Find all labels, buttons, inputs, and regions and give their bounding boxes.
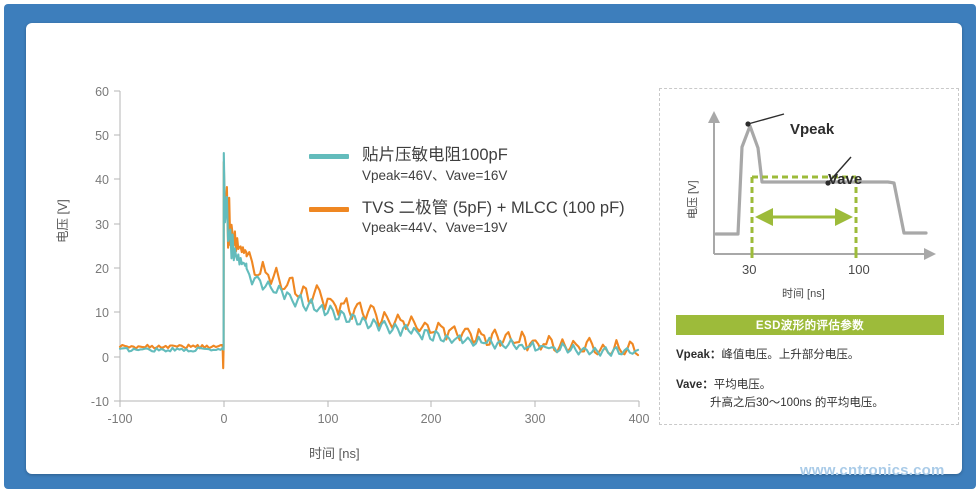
x-tick: 100	[318, 412, 339, 426]
mini-y-axis-label: 电压 [V]	[684, 180, 700, 219]
definition-vave: Vave：平均电压。 升高之后30～100ns 的平均电压。	[676, 377, 951, 412]
vave-annotation-label: Vave	[828, 171, 862, 188]
y-tick: 60	[95, 85, 109, 99]
screenshot-root: 电压 [V] 时间 [ns]	[0, 0, 980, 493]
legend-label: 贴片压敏电阻100pF	[362, 145, 508, 166]
legend-sublabel: Vpeak=44V、Vave=19V	[362, 219, 625, 237]
outer-frame: 电压 [V] 时间 [ns]	[4, 4, 976, 489]
watermark: www.cntronics.com	[800, 462, 945, 479]
definition-list: Vpeak：峰值电压。上升部分电压。 Vave：平均电压。 升高之后30～100…	[676, 347, 951, 425]
definition-vpeak: Vpeak：峰值电压。上升部分电压。	[676, 347, 951, 364]
definition-key: Vave：	[676, 379, 714, 391]
x-tick: 400	[629, 412, 650, 426]
x-tick: -100	[107, 412, 132, 426]
mini-waveform-diagram: 电压 [V] 时间 [ns] 30 100	[676, 99, 944, 299]
definition-text: 平均电压。	[714, 379, 772, 391]
legend-swatch-varistor	[309, 154, 349, 159]
x-axis-label: 时间 [ns]	[309, 443, 360, 462]
x-tick-labels: -100 0 100 200 300 400	[107, 412, 649, 426]
mini-x-axis-label: 时间 [ns]	[782, 285, 825, 301]
chart-svg: 60 50 40 30 20 10 0 -10	[54, 63, 654, 463]
definition-text: 峰值电压。上升部分电压。	[721, 349, 859, 361]
esd-banner-text: ESD波形的评估参数	[756, 317, 864, 333]
x-tick-marks	[120, 401, 639, 407]
legend-swatch-tvs-mlcc	[309, 207, 349, 212]
x-tick: 300	[525, 412, 546, 426]
mini-x-tick-100: 100	[848, 262, 870, 277]
legend-sublabel: Vpeak=46V、Vave=16V	[362, 167, 508, 185]
mini-x-tick-30: 30	[742, 262, 756, 277]
definition-text-second-line: 升高之后30～100ns 的平均电压。	[676, 395, 951, 412]
legend-label: TVS 二极管 (5pF) + MLCC (100 pF)	[362, 198, 625, 219]
definition-key: Vpeak：	[676, 349, 721, 361]
y-tick-labels: 60 50 40 30 20 10 0 -10	[91, 85, 109, 409]
vpeak-annotation-label: Vpeak	[790, 121, 834, 138]
main-chart: 电压 [V] 时间 [ns]	[54, 63, 654, 463]
esd-parameter-panel: 电压 [V] 时间 [ns] 30 100	[659, 88, 959, 425]
x-tick: 0	[221, 412, 228, 426]
y-tick-marks	[114, 91, 120, 401]
y-tick: -10	[91, 395, 109, 409]
y-tick: 0	[102, 351, 109, 365]
y-tick: 40	[95, 173, 109, 187]
content-panel: 电压 [V] 时间 [ns]	[26, 23, 962, 474]
y-axis-label: 电压 [V]	[52, 199, 71, 243]
y-tick: 10	[95, 306, 109, 320]
legend-item: TVS 二极管 (5pF) + MLCC (100 pF) Vpeak=44V、…	[309, 198, 639, 238]
y-tick: 30	[95, 218, 109, 232]
x-tick: 200	[421, 412, 442, 426]
y-tick: 20	[95, 262, 109, 276]
y-tick: 50	[95, 129, 109, 143]
legend-item: 贴片压敏电阻100pF Vpeak=46V、Vave=16V	[309, 145, 639, 185]
esd-banner: ESD波形的评估参数	[676, 315, 944, 335]
chart-legend: 贴片压敏电阻100pF Vpeak=46V、Vave=16V TVS 二极管 (…	[309, 145, 639, 251]
